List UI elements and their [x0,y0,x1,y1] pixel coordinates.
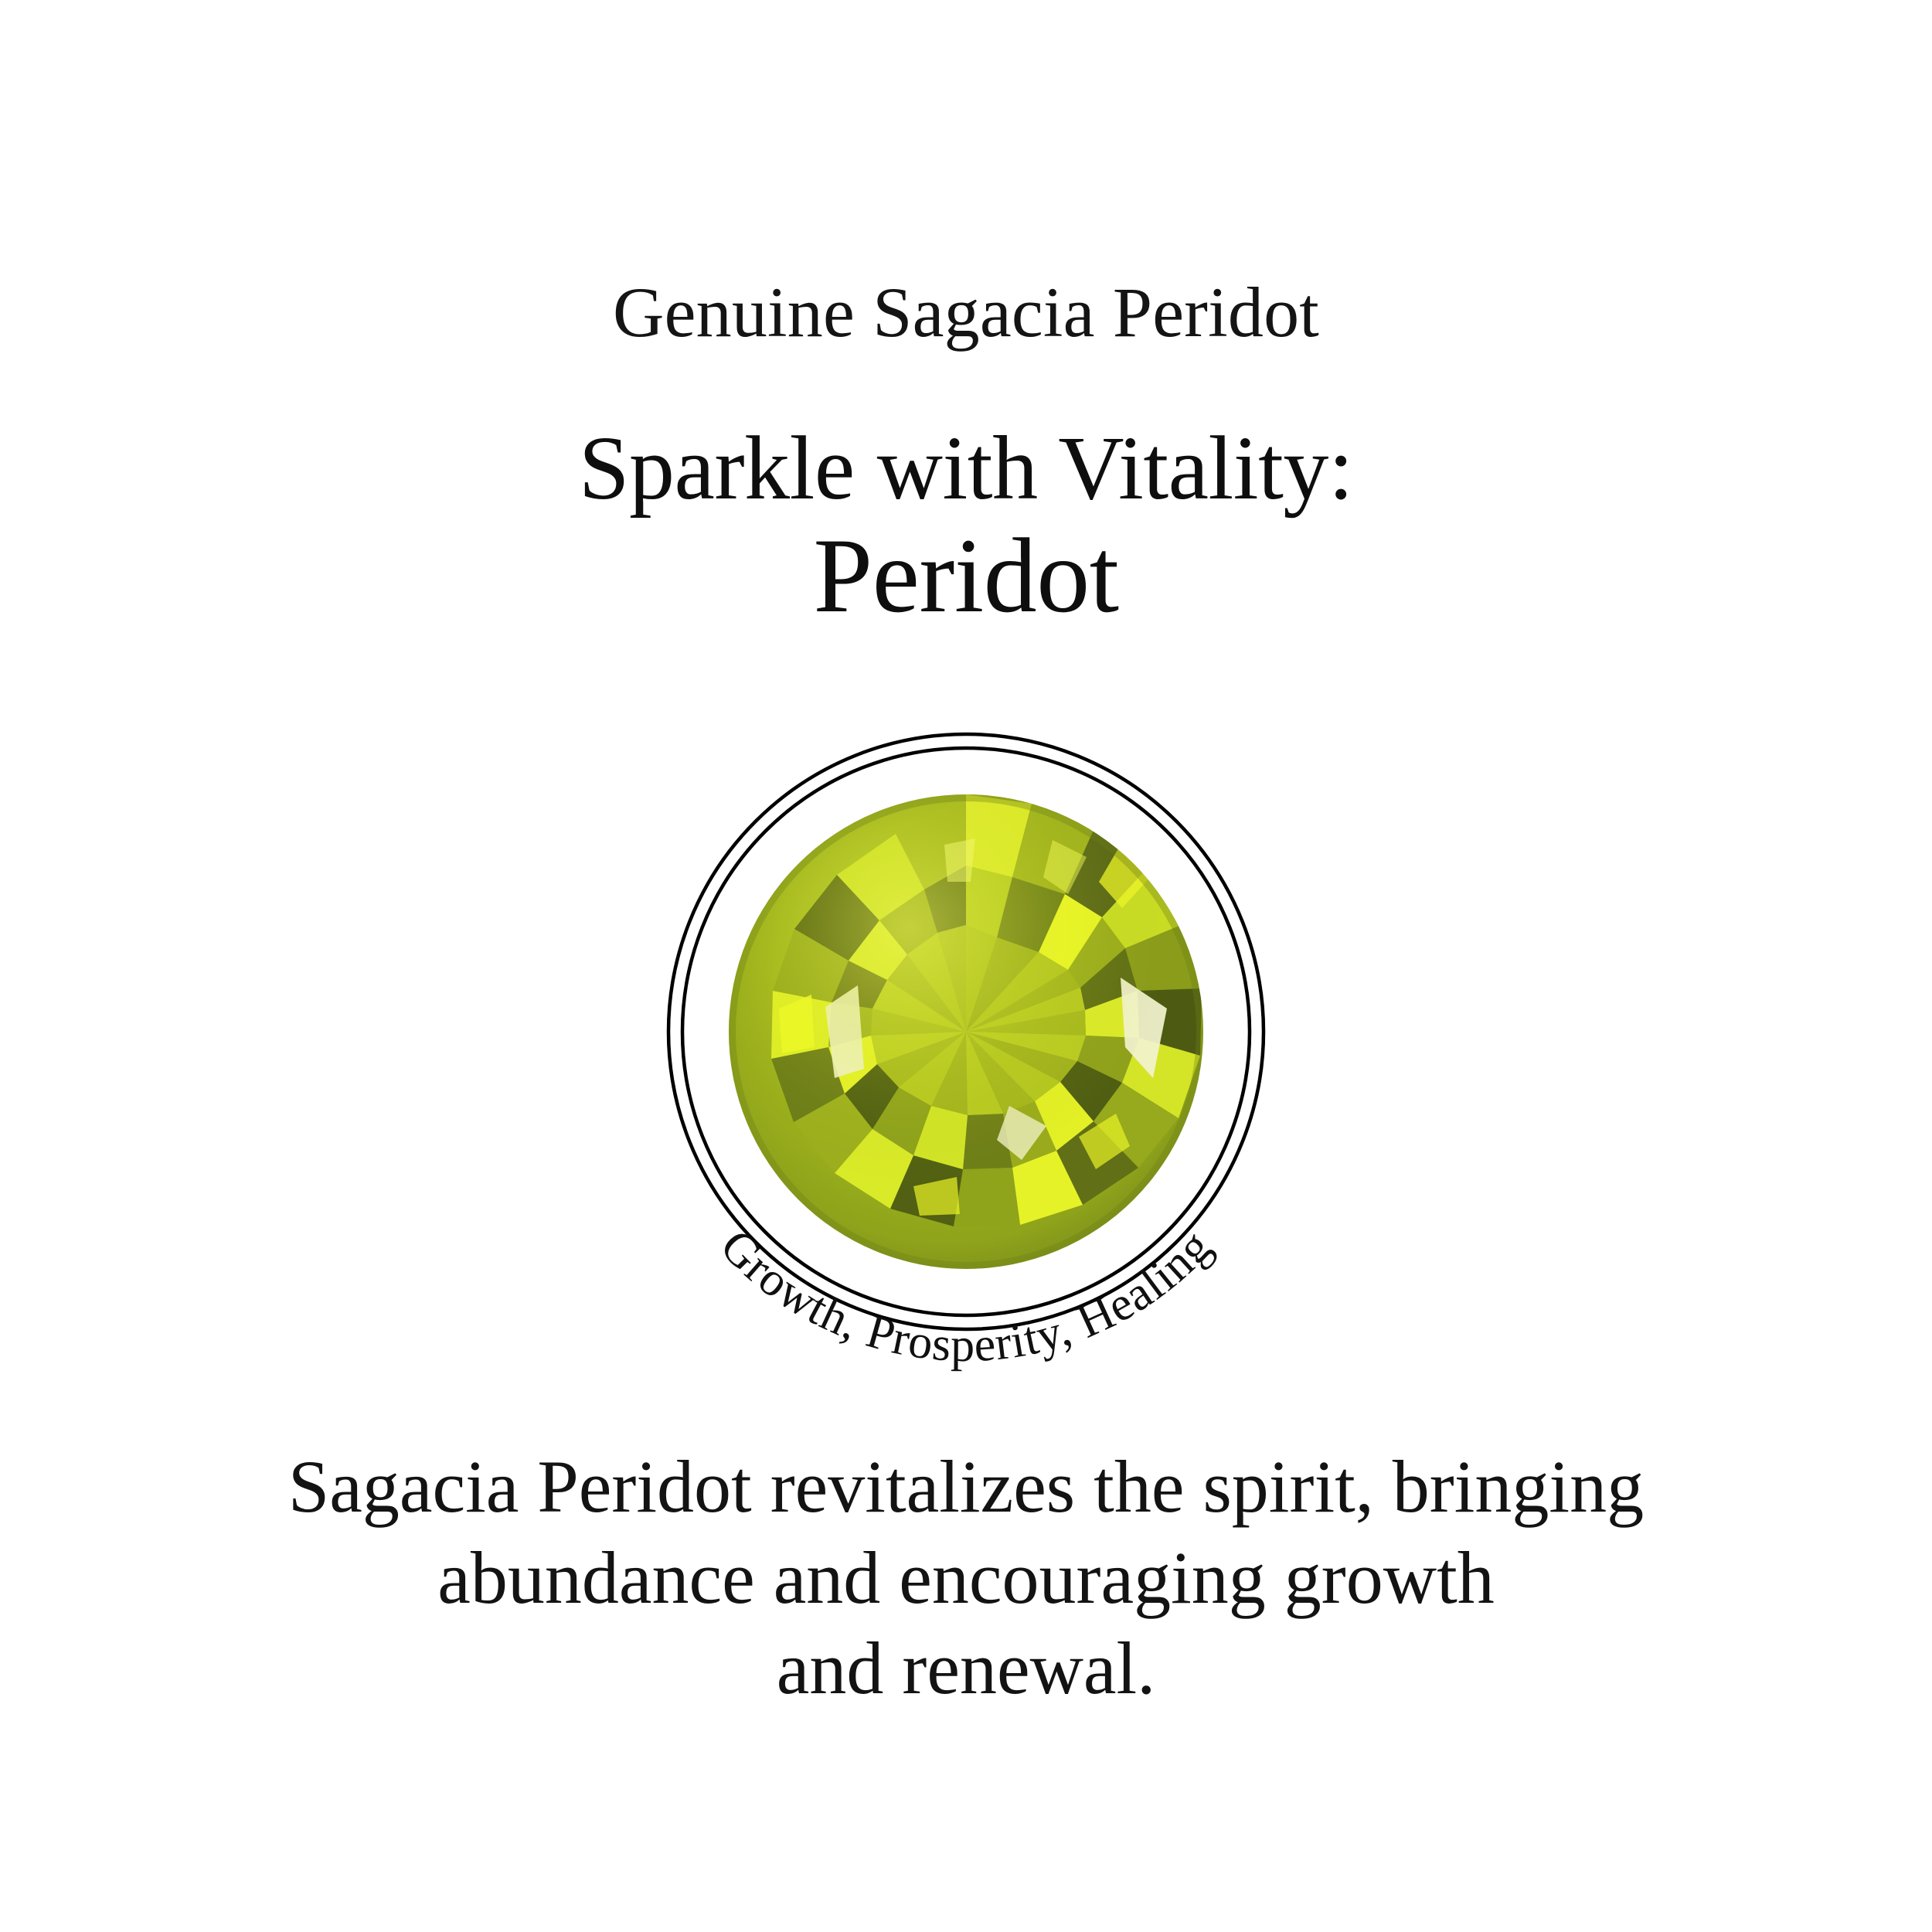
description-paragraph: Sagacia Peridot revitalizes the spirit, … [209,1441,1723,1713]
headline-line-1: Sparkle with Vitality: [579,422,1353,515]
page-title: Sparkle with Vitality: Peridot [579,422,1353,630]
description-line-1: Sagacia Peridot revitalizes the spirit, … [209,1441,1723,1532]
gemstone-badge-graphic: Growth, Prosperity, Healing [580,645,1352,1418]
description-line-3: and renewal. [209,1623,1723,1713]
peridot-gemstone-card: Genuine Sagacia Peridot Sparkle with Vit… [0,0,1932,1932]
eyebrow-text: Genuine Sagacia Peridot [613,274,1319,351]
peridot-gem-icon [729,794,1203,1269]
description-line-2: abundance and encouraging growth [209,1532,1723,1623]
headline-line-2: Peridot [579,522,1353,631]
gemstone-badge: Growth, Prosperity, Healing [580,645,1352,1418]
